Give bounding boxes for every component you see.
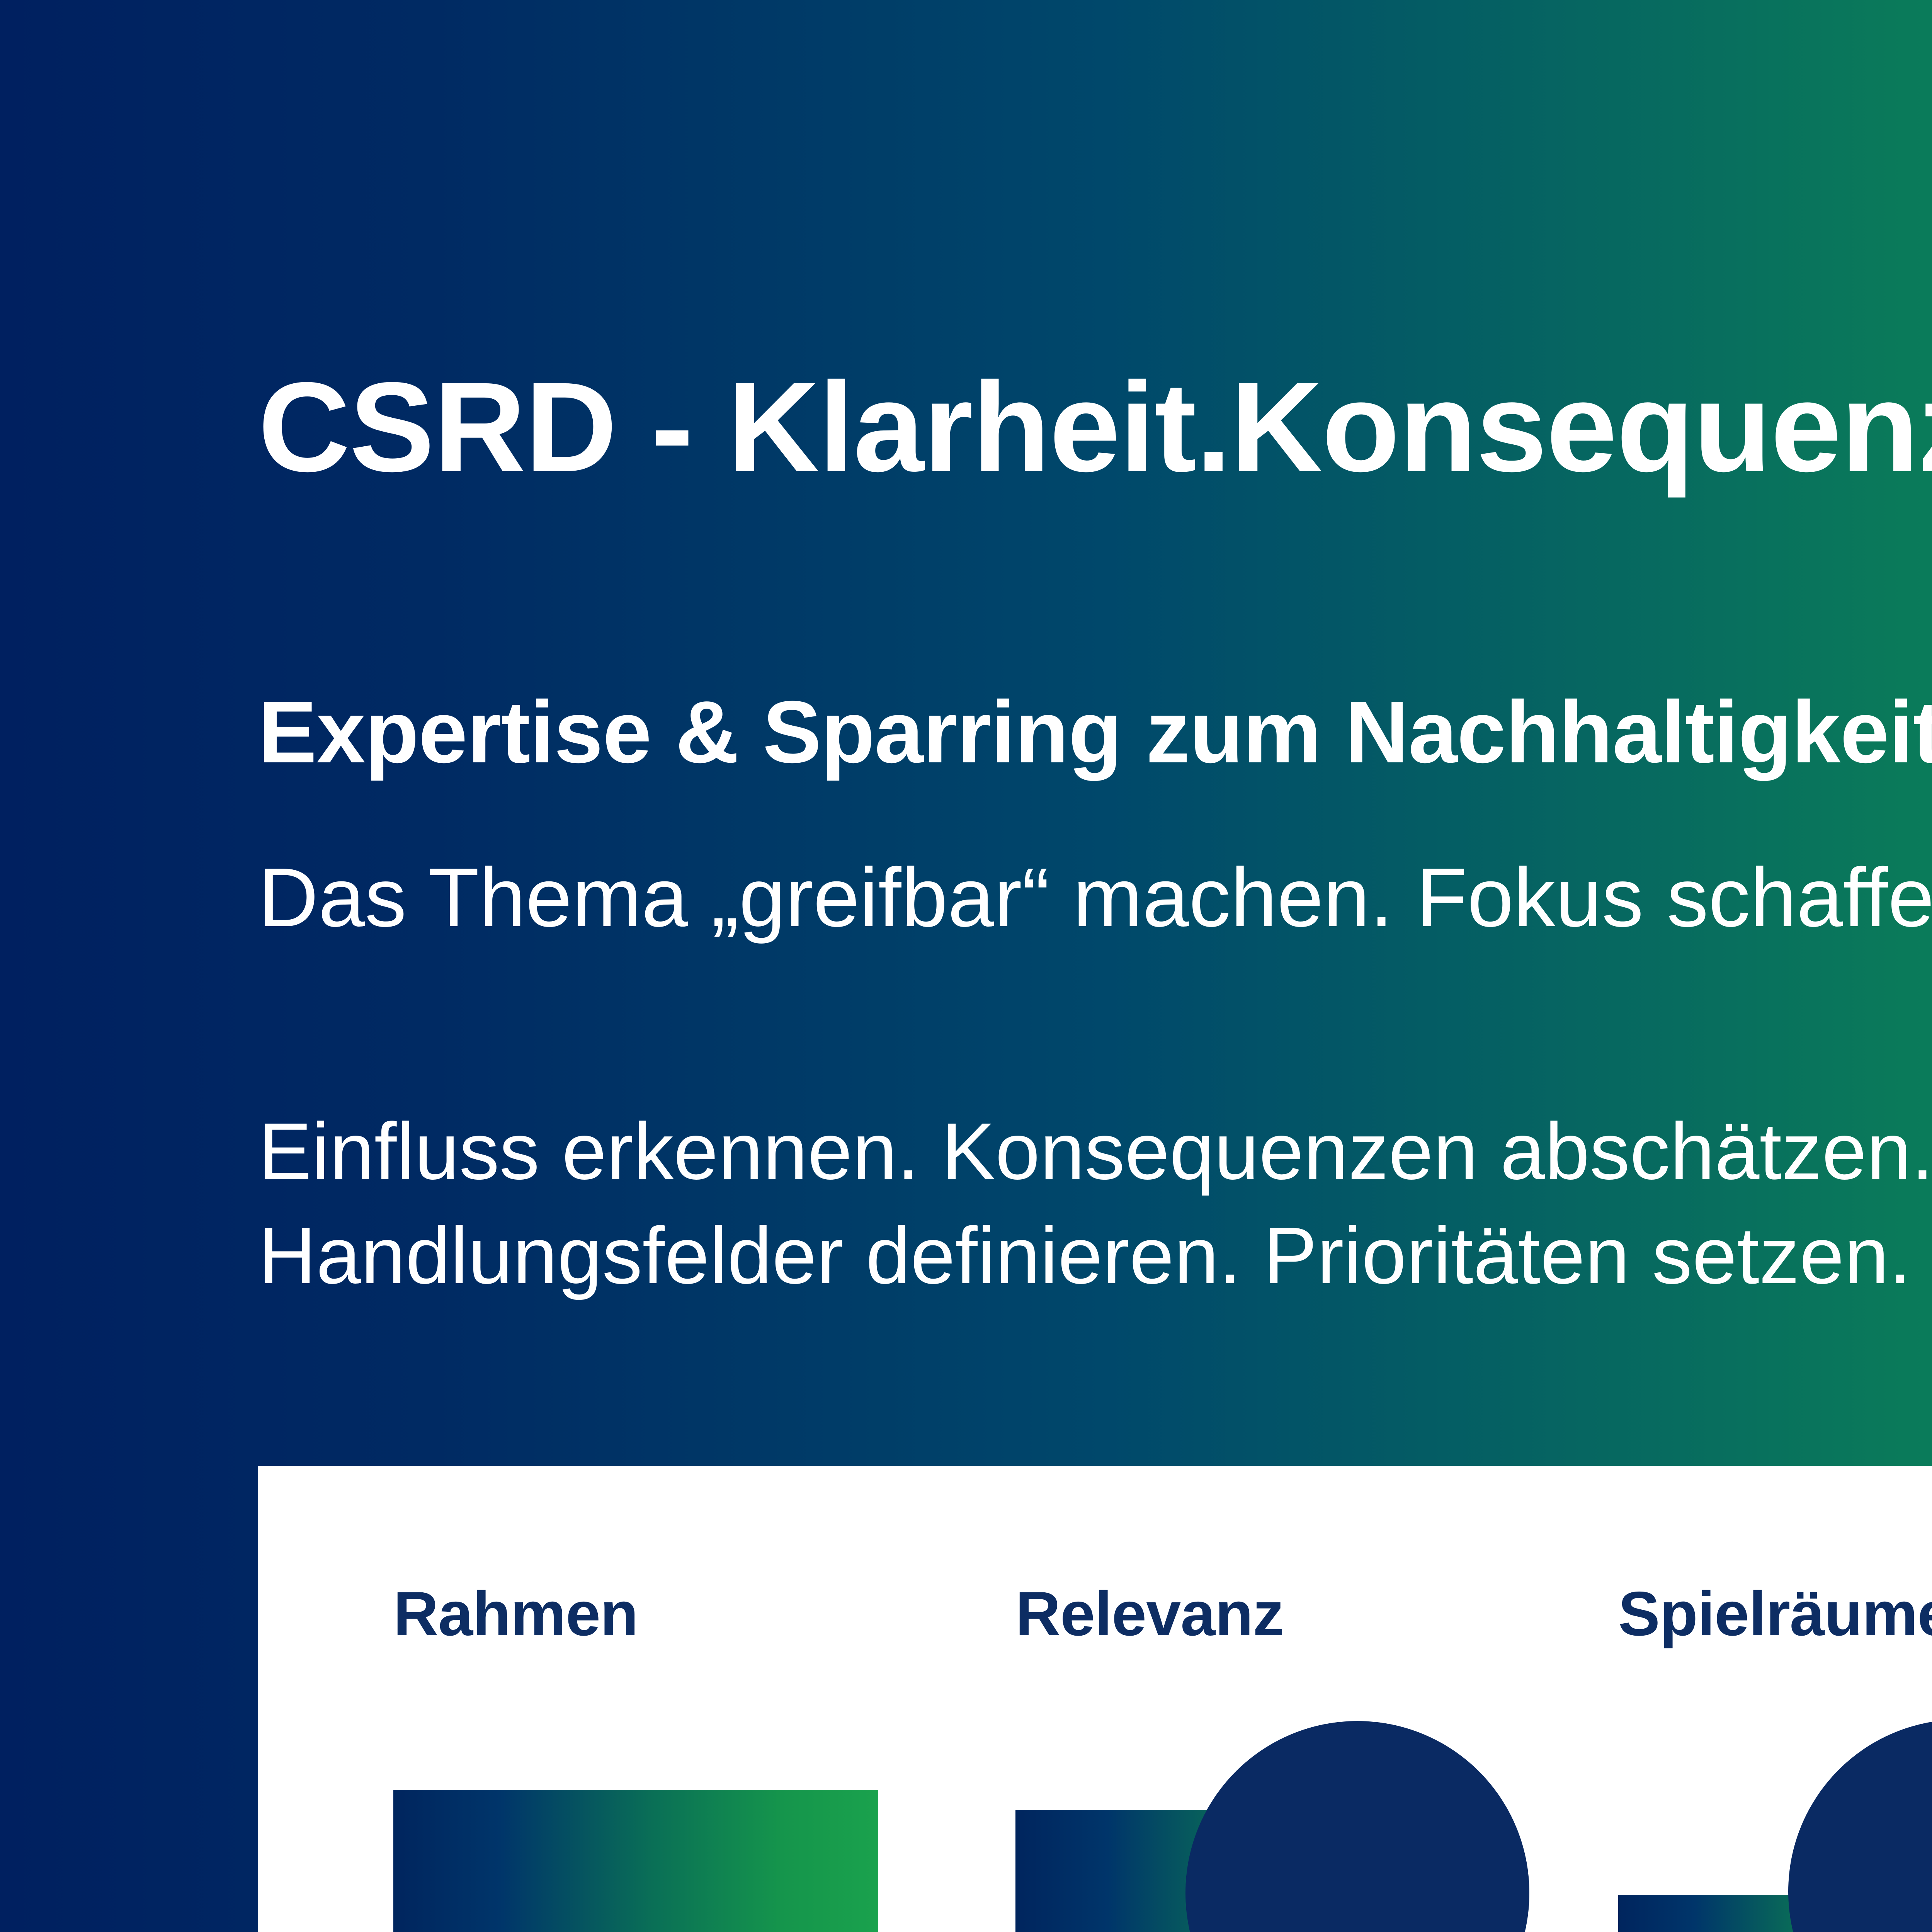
body-line-2: Handlungsfelder definieren. Prioritäten … [258, 1204, 1932, 1308]
shape-stage-rahmen [335, 1682, 938, 1932]
diagram-cell-spielraeume: Spielräume [1541, 1466, 1932, 1932]
diagram-label-rahmen: Rahmen [393, 1578, 638, 1650]
body-line-1: Einfluss erkennen. Konsequenzen abschätz… [258, 1099, 1932, 1204]
diagram-card: Rahmen Relevanz Spielräume [258, 1466, 1932, 1932]
diagram-cell-rahmen: Rahmen [335, 1466, 938, 1932]
diagram-grid: Rahmen Relevanz Spielräume [258, 1466, 1932, 1932]
shape-stage-spielraeume [1541, 1682, 1932, 1932]
navy-circle-icon [1788, 1719, 1932, 1932]
diagram-label-spielraeume: Spielräume [1618, 1578, 1932, 1650]
gradient-square-icon [393, 1790, 878, 1932]
shape-stage-relevanz [938, 1682, 1541, 1932]
diagram-label-relevanz: Relevanz [1015, 1578, 1284, 1650]
navy-circle-icon [1185, 1721, 1529, 1932]
page-title: CSRD - Klarheit.Konsequenzen.Kompakt. [258, 359, 1932, 495]
lead-text: Das Thema „greifbar“ machen. Fokus schaf… [258, 848, 1932, 947]
poster-canvas: CSRD - Klarheit.Konsequenzen.Kompakt. Ex… [0, 0, 1932, 1932]
diagram-cell-relevanz: Relevanz [938, 1466, 1541, 1932]
body-paragraph: Einfluss erkennen. Konsequenzen abschätz… [258, 1099, 1932, 1308]
subtitle: Expertise & Sparring zum Nachhaltigkeits… [258, 684, 1932, 781]
